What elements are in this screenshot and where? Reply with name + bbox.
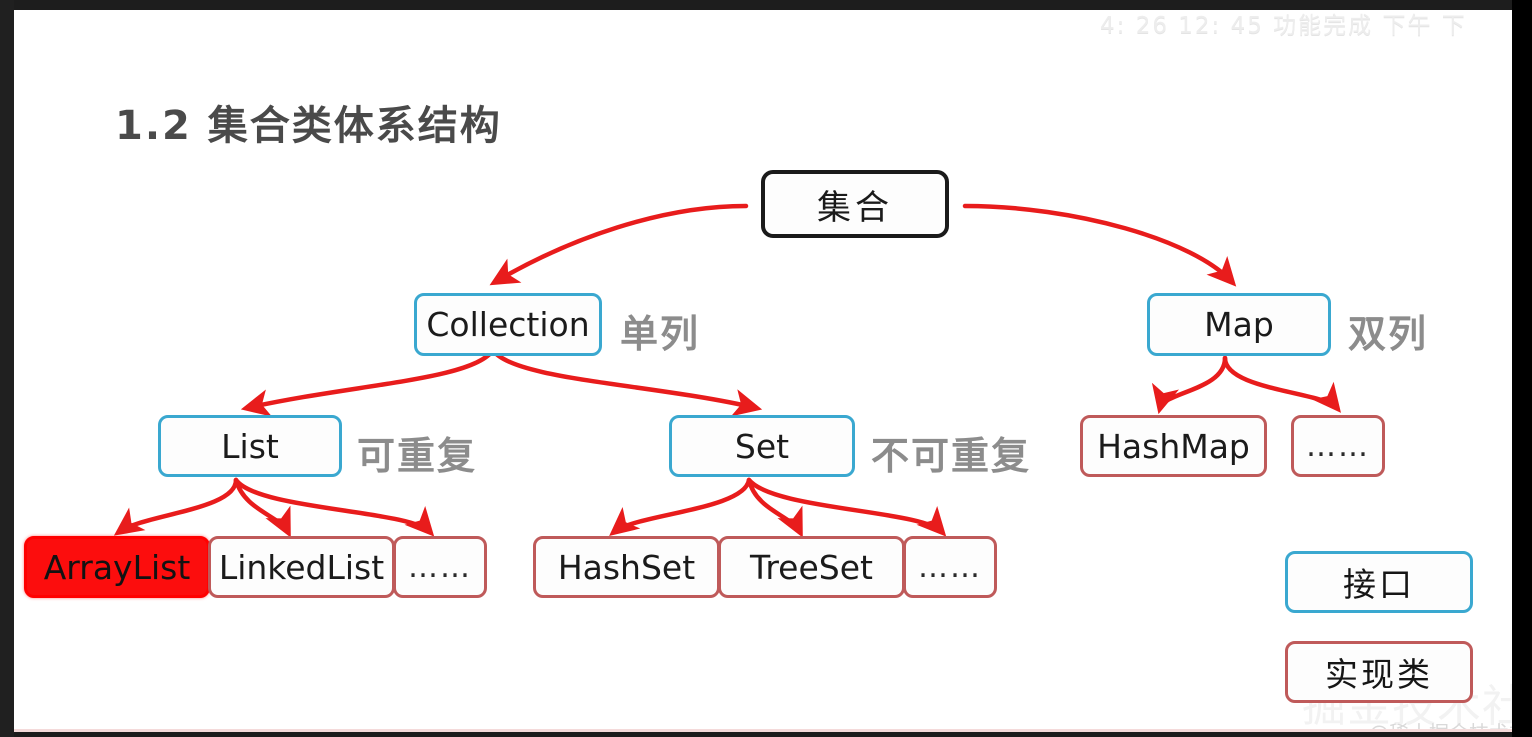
player-top-bar	[0, 0, 1532, 10]
node-arraylist[interactable]: ArrayList	[24, 536, 210, 598]
annotation-map: 双列	[1348, 303, 1428, 358]
right-letterbox	[1512, 0, 1532, 737]
node-set[interactable]: Set	[669, 415, 855, 477]
node-set-more[interactable]: ……	[903, 536, 997, 598]
node-treeset[interactable]: TreeSet	[718, 536, 905, 598]
node-linkedlist[interactable]: LinkedList	[208, 536, 395, 598]
node-collection[interactable]: Collection	[414, 293, 602, 356]
slide-title: 1.2 集合类体系结构	[115, 93, 502, 151]
node-map-more[interactable]: ……	[1291, 415, 1385, 477]
annotation-list: 可重复	[357, 425, 477, 480]
slide-canvas: 4: 26 12: 45 功能完成 下午 下 掘金技术社区 @稀土掘金技术社区 …	[14, 10, 1512, 732]
left-letterbox	[0, 0, 14, 737]
node-root-collection[interactable]: 集合	[761, 170, 949, 238]
node-map[interactable]: Map	[1147, 293, 1331, 356]
bottom-divider	[14, 729, 1512, 732]
video-frame: 4: 26 12: 45 功能完成 下午 下 掘金技术社区 @稀土掘金技术社区 …	[0, 0, 1532, 737]
top-watermark: 4: 26 12: 45 功能完成 下午 下	[1100, 10, 1467, 40]
legend-interface: 接口	[1285, 551, 1473, 613]
node-hashset[interactable]: HashSet	[533, 536, 720, 598]
legend-implementation-class: 实现类	[1285, 641, 1473, 703]
node-list-more[interactable]: ……	[393, 536, 487, 598]
node-list[interactable]: List	[158, 415, 342, 477]
annotation-collection: 单列	[620, 303, 700, 358]
annotation-set: 不可重复	[871, 425, 1031, 480]
node-hashmap[interactable]: HashMap	[1080, 415, 1267, 477]
